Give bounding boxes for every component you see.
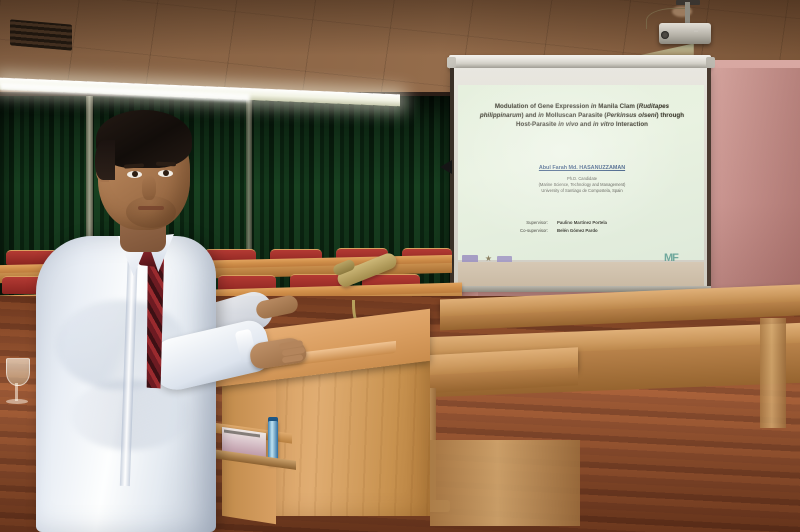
slide-title-line-1: Modulation of Gene Expression in Manila … [495,103,669,110]
projector-lens-icon [661,31,669,39]
wine-glass-bowl [6,358,30,386]
presenter-mouth [138,206,164,210]
presenter-hair-side [95,140,115,180]
projector-led-icon [694,29,698,32]
supervisor-label: Supervisor: [500,219,557,227]
wall-right-shading [700,68,800,298]
author-affiliation: University of Santiago de Compostela, Sp… [541,188,622,193]
presenter-pupil-right [163,170,169,176]
slide-author-name: Abul Farah Md. HASANUZZAMAN [470,166,694,171]
supervisor-row: Supervisor: Paulino Martínez Portela [500,219,670,227]
presenter-nose [142,176,156,200]
screen-edge-right [707,68,711,288]
co-supervisor-row: Co-supervisor: Belén Gómez Pardo [500,227,670,235]
slide-author-details: Ph.D. Candidate (Marine Science, Technol… [470,176,694,195]
presenter-eyebrow-right [156,162,176,167]
screen-roller-case [449,55,711,69]
table-leg-right [760,318,786,428]
slide-title-line-3: Host-Parasite in vivo and in vitro Inter… [516,121,648,128]
co-supervisor-name: Belén Gómez Pardo [557,227,670,235]
slide-title: Modulation of Gene Expression in Manila … [466,102,698,130]
screen-case-end-right [706,57,715,68]
conference-presentation-photo: Modulation of Gene Expression in Manila … [0,0,800,532]
ceiling-vent [10,19,72,50]
screen-case-end-left [447,57,456,68]
author-role: Ph.D. Candidate [567,176,597,181]
slide-supervisors: Supervisor: Paulino Martínez Portela Co-… [500,219,670,235]
projector-mount-pole [685,2,690,24]
wine-glass-foot [6,399,28,404]
slide-title-line-2: philippinarum) and in Molluscan Parasite… [480,112,684,119]
supervisor-name: Paulino Martínez Portela [557,219,670,227]
table-panel-front [430,440,580,526]
co-supervisor-label: Co-supervisor: [500,227,557,235]
presenter-chin-shading [126,196,176,228]
presenter-pupil-left [132,171,138,177]
screen-lower-band [458,262,704,288]
author-program: (Marine Science, Technology and Manageme… [539,182,626,187]
